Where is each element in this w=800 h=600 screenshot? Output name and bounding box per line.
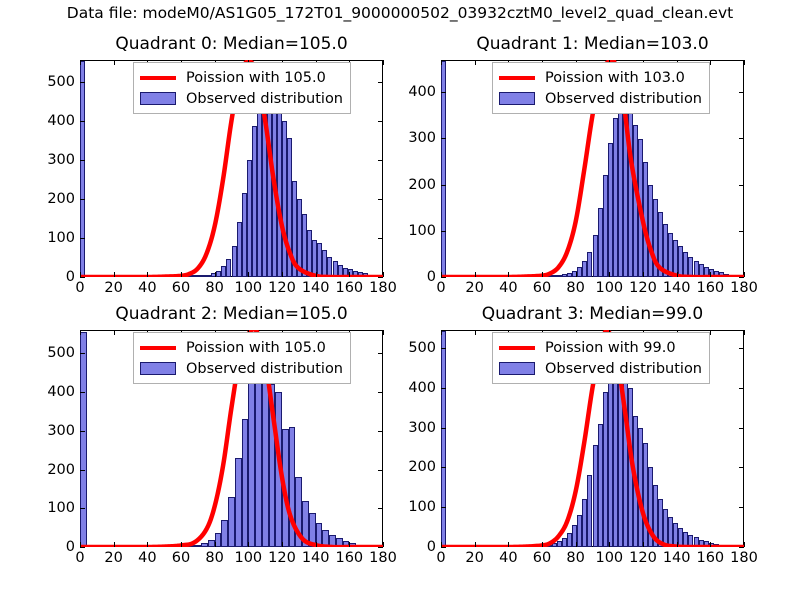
x-tick-top bbox=[744, 330, 745, 335]
x-tick bbox=[215, 542, 216, 547]
legend-item-observed: Observed distribution bbox=[140, 358, 343, 379]
y-tick-label: 0 bbox=[427, 269, 436, 285]
legend-label-observed: Observed distribution bbox=[545, 361, 702, 377]
x-tick-label: 140 bbox=[663, 550, 691, 566]
y-tick bbox=[441, 185, 446, 186]
x-tick bbox=[282, 272, 283, 277]
x-tick bbox=[643, 272, 644, 277]
y-tick-right bbox=[739, 138, 744, 139]
x-tick bbox=[609, 542, 610, 547]
y-tick bbox=[80, 353, 85, 354]
x-tick bbox=[215, 272, 216, 277]
x-tick bbox=[710, 272, 711, 277]
x-tick-label: 180 bbox=[369, 280, 397, 296]
x-tick-top bbox=[441, 60, 442, 65]
y-tick-right bbox=[739, 92, 744, 93]
y-tick-label: 200 bbox=[408, 459, 436, 475]
legend-label-observed: Observed distribution bbox=[186, 91, 343, 107]
x-tick-label: 40 bbox=[499, 550, 517, 566]
x-tick-label: 120 bbox=[629, 550, 657, 566]
y-tick-label: 100 bbox=[47, 230, 75, 246]
y-tick-label: 400 bbox=[408, 84, 436, 100]
x-tick bbox=[508, 542, 509, 547]
legend[interactable]: Poission with 105.0Observed distribution bbox=[133, 332, 351, 384]
legend-line-swatch bbox=[499, 76, 535, 80]
subplot-quadrant-2: Quadrant 2: Median=105.00204060801001201… bbox=[80, 330, 383, 547]
x-tick-top bbox=[744, 60, 745, 65]
y-tick bbox=[80, 199, 85, 200]
legend[interactable]: Poission with 103.0Observed distribution bbox=[492, 62, 710, 114]
y-tick-right bbox=[739, 231, 744, 232]
subplot-title: Quadrant 1: Median=103.0 bbox=[401, 34, 784, 54]
x-tick-label: 60 bbox=[533, 280, 551, 296]
x-tick bbox=[475, 542, 476, 547]
legend-item-poisson: Poission with 105.0 bbox=[140, 337, 343, 358]
x-tick-label: 140 bbox=[663, 280, 691, 296]
x-tick-top bbox=[710, 60, 711, 65]
y-tick bbox=[80, 547, 85, 548]
x-tick bbox=[147, 272, 148, 277]
x-tick-top bbox=[710, 330, 711, 335]
legend-line-swatch bbox=[499, 346, 535, 350]
y-tick-right bbox=[739, 547, 744, 548]
legend-line-swatch bbox=[140, 346, 176, 350]
x-tick-label: 160 bbox=[335, 550, 363, 566]
x-tick-label: 20 bbox=[465, 550, 483, 566]
y-tick bbox=[80, 121, 85, 122]
y-tick-label: 400 bbox=[47, 113, 75, 129]
x-tick-label: 140 bbox=[302, 550, 330, 566]
legend[interactable]: Poission with 105.0Observed distribution bbox=[133, 62, 351, 114]
x-tick-top bbox=[475, 60, 476, 65]
y-tick bbox=[80, 238, 85, 239]
y-tick-label: 0 bbox=[427, 539, 436, 555]
legend-patch-swatch bbox=[499, 92, 535, 105]
y-tick-right bbox=[378, 199, 383, 200]
y-tick-right bbox=[378, 160, 383, 161]
y-tick-label: 300 bbox=[47, 152, 75, 168]
x-tick-label: 0 bbox=[75, 280, 84, 296]
legend-label-poisson: Poission with 105.0 bbox=[186, 340, 326, 356]
y-tick-label: 500 bbox=[47, 74, 75, 90]
x-tick bbox=[542, 542, 543, 547]
y-tick-right bbox=[739, 467, 744, 468]
y-tick-label: 500 bbox=[47, 345, 75, 361]
x-tick bbox=[349, 272, 350, 277]
x-tick-top bbox=[114, 60, 115, 65]
y-tick-right bbox=[378, 238, 383, 239]
x-tick-label: 80 bbox=[205, 280, 223, 296]
x-tick-top bbox=[383, 60, 384, 65]
legend-label-observed: Observed distribution bbox=[186, 361, 343, 377]
x-tick bbox=[710, 542, 711, 547]
x-tick-top bbox=[114, 330, 115, 335]
legend-label-poisson: Poission with 105.0 bbox=[186, 70, 326, 86]
x-tick-top bbox=[441, 330, 442, 335]
x-tick-label: 20 bbox=[104, 280, 122, 296]
legend-patch-swatch bbox=[140, 92, 176, 105]
y-tick bbox=[80, 82, 85, 83]
x-tick-label: 120 bbox=[268, 280, 296, 296]
x-tick bbox=[508, 272, 509, 277]
x-tick-label: 100 bbox=[595, 550, 623, 566]
x-tick bbox=[677, 272, 678, 277]
y-tick-label: 300 bbox=[47, 423, 75, 439]
x-tick bbox=[316, 272, 317, 277]
x-tick bbox=[542, 272, 543, 277]
y-tick-label: 100 bbox=[408, 223, 436, 239]
x-tick-label: 120 bbox=[268, 550, 296, 566]
x-tick bbox=[114, 542, 115, 547]
legend-label-poisson: Poission with 103.0 bbox=[545, 70, 685, 86]
y-tick bbox=[441, 277, 446, 278]
x-tick-label: 100 bbox=[595, 280, 623, 296]
x-tick-label: 100 bbox=[234, 280, 262, 296]
y-tick bbox=[441, 507, 446, 508]
y-tick-right bbox=[378, 431, 383, 432]
y-tick-label: 500 bbox=[408, 340, 436, 356]
legend-patch-swatch bbox=[140, 362, 176, 375]
x-tick bbox=[248, 272, 249, 277]
x-tick-label: 180 bbox=[730, 280, 758, 296]
x-tick bbox=[282, 542, 283, 547]
x-tick-label: 40 bbox=[138, 550, 156, 566]
y-tick bbox=[441, 348, 446, 349]
x-tick-label: 80 bbox=[566, 550, 584, 566]
y-tick-right bbox=[378, 82, 383, 83]
x-tick bbox=[576, 542, 577, 547]
y-tick bbox=[441, 138, 446, 139]
legend-patch-swatch bbox=[499, 362, 535, 375]
y-tick bbox=[441, 92, 446, 93]
x-tick bbox=[181, 542, 182, 547]
y-tick bbox=[80, 160, 85, 161]
x-tick-label: 80 bbox=[205, 550, 223, 566]
y-tick bbox=[441, 388, 446, 389]
y-tick-right bbox=[739, 428, 744, 429]
x-tick-label: 40 bbox=[138, 280, 156, 296]
x-tick bbox=[248, 542, 249, 547]
y-tick-right bbox=[378, 277, 383, 278]
y-tick-label: 200 bbox=[47, 462, 75, 478]
x-tick-label: 0 bbox=[75, 550, 84, 566]
subplot-title: Quadrant 2: Median=105.0 bbox=[40, 304, 423, 324]
x-tick-label: 180 bbox=[369, 550, 397, 566]
x-tick-label: 100 bbox=[234, 550, 262, 566]
x-tick bbox=[147, 542, 148, 547]
x-tick-label: 160 bbox=[335, 280, 363, 296]
y-tick-right bbox=[378, 470, 383, 471]
x-tick-label: 0 bbox=[436, 550, 445, 566]
x-tick-label: 160 bbox=[696, 280, 724, 296]
x-tick bbox=[114, 272, 115, 277]
x-tick bbox=[181, 272, 182, 277]
y-tick-label: 300 bbox=[408, 130, 436, 146]
x-tick-label: 40 bbox=[499, 280, 517, 296]
legend-item-observed: Observed distribution bbox=[140, 88, 343, 109]
y-tick bbox=[80, 277, 85, 278]
x-tick-top bbox=[475, 330, 476, 335]
x-tick-label: 160 bbox=[696, 550, 724, 566]
legend-item-observed: Observed distribution bbox=[499, 358, 702, 379]
x-tick bbox=[677, 542, 678, 547]
subplot-quadrant-0: Quadrant 0: Median=105.00204060801001201… bbox=[80, 60, 383, 277]
y-tick-right bbox=[378, 547, 383, 548]
y-tick-right bbox=[378, 121, 383, 122]
x-tick-label: 180 bbox=[730, 550, 758, 566]
x-tick-label: 60 bbox=[172, 550, 190, 566]
legend-item-observed: Observed distribution bbox=[499, 88, 702, 109]
x-tick-label: 20 bbox=[104, 550, 122, 566]
legend[interactable]: Poission with 99.0Observed distribution bbox=[492, 332, 710, 384]
legend-item-poisson: Poission with 99.0 bbox=[499, 337, 702, 358]
figure-suptitle: Data file: modeM0/AS1G05_172T01_90000005… bbox=[0, 4, 800, 22]
y-tick bbox=[441, 547, 446, 548]
y-tick-label: 0 bbox=[66, 269, 75, 285]
y-tick-label: 0 bbox=[66, 539, 75, 555]
y-tick-label: 100 bbox=[408, 499, 436, 515]
x-tick-label: 60 bbox=[533, 550, 551, 566]
x-tick-label: 120 bbox=[629, 280, 657, 296]
x-tick bbox=[643, 542, 644, 547]
x-tick-top bbox=[80, 60, 81, 65]
x-tick bbox=[609, 272, 610, 277]
x-tick bbox=[316, 542, 317, 547]
x-tick-label: 0 bbox=[436, 280, 445, 296]
x-tick-top bbox=[80, 330, 81, 335]
x-tick bbox=[383, 542, 384, 547]
x-tick bbox=[349, 542, 350, 547]
subplot-title: Quadrant 3: Median=99.0 bbox=[401, 304, 784, 324]
y-tick-label: 300 bbox=[408, 420, 436, 436]
y-tick bbox=[441, 467, 446, 468]
y-tick-right bbox=[739, 185, 744, 186]
x-tick-label: 140 bbox=[302, 280, 330, 296]
y-tick-label: 400 bbox=[47, 384, 75, 400]
y-tick-right bbox=[378, 392, 383, 393]
x-tick-label: 20 bbox=[465, 280, 483, 296]
legend-item-poisson: Poission with 105.0 bbox=[140, 67, 343, 88]
y-tick-right bbox=[739, 388, 744, 389]
subplot-quadrant-3: Quadrant 3: Median=99.002040608010012014… bbox=[441, 330, 744, 547]
figure-canvas: Data file: modeM0/AS1G05_172T01_90000005… bbox=[0, 0, 800, 600]
y-tick bbox=[80, 470, 85, 471]
legend-item-poisson: Poission with 103.0 bbox=[499, 67, 702, 88]
y-tick bbox=[80, 392, 85, 393]
x-tick bbox=[576, 272, 577, 277]
y-tick-right bbox=[378, 353, 383, 354]
x-tick bbox=[744, 272, 745, 277]
y-tick-label: 400 bbox=[408, 380, 436, 396]
legend-label-poisson: Poission with 99.0 bbox=[545, 340, 676, 356]
y-tick-label: 200 bbox=[47, 191, 75, 207]
legend-label-observed: Observed distribution bbox=[545, 91, 702, 107]
y-tick-label: 200 bbox=[408, 177, 436, 193]
y-tick-right bbox=[739, 277, 744, 278]
y-tick-right bbox=[739, 507, 744, 508]
y-tick-right bbox=[378, 508, 383, 509]
legend-line-swatch bbox=[140, 76, 176, 80]
x-tick bbox=[383, 272, 384, 277]
x-tick-label: 80 bbox=[566, 280, 584, 296]
subplot-title: Quadrant 0: Median=105.0 bbox=[40, 34, 423, 54]
x-tick bbox=[744, 542, 745, 547]
y-tick-right bbox=[739, 348, 744, 349]
y-tick bbox=[441, 428, 446, 429]
x-tick-label: 60 bbox=[172, 280, 190, 296]
x-tick-top bbox=[383, 330, 384, 335]
y-tick bbox=[80, 431, 85, 432]
subplot-quadrant-1: Quadrant 1: Median=103.00204060801001201… bbox=[441, 60, 744, 277]
y-tick bbox=[441, 231, 446, 232]
y-tick bbox=[80, 508, 85, 509]
x-tick bbox=[475, 272, 476, 277]
y-tick-label: 100 bbox=[47, 500, 75, 516]
